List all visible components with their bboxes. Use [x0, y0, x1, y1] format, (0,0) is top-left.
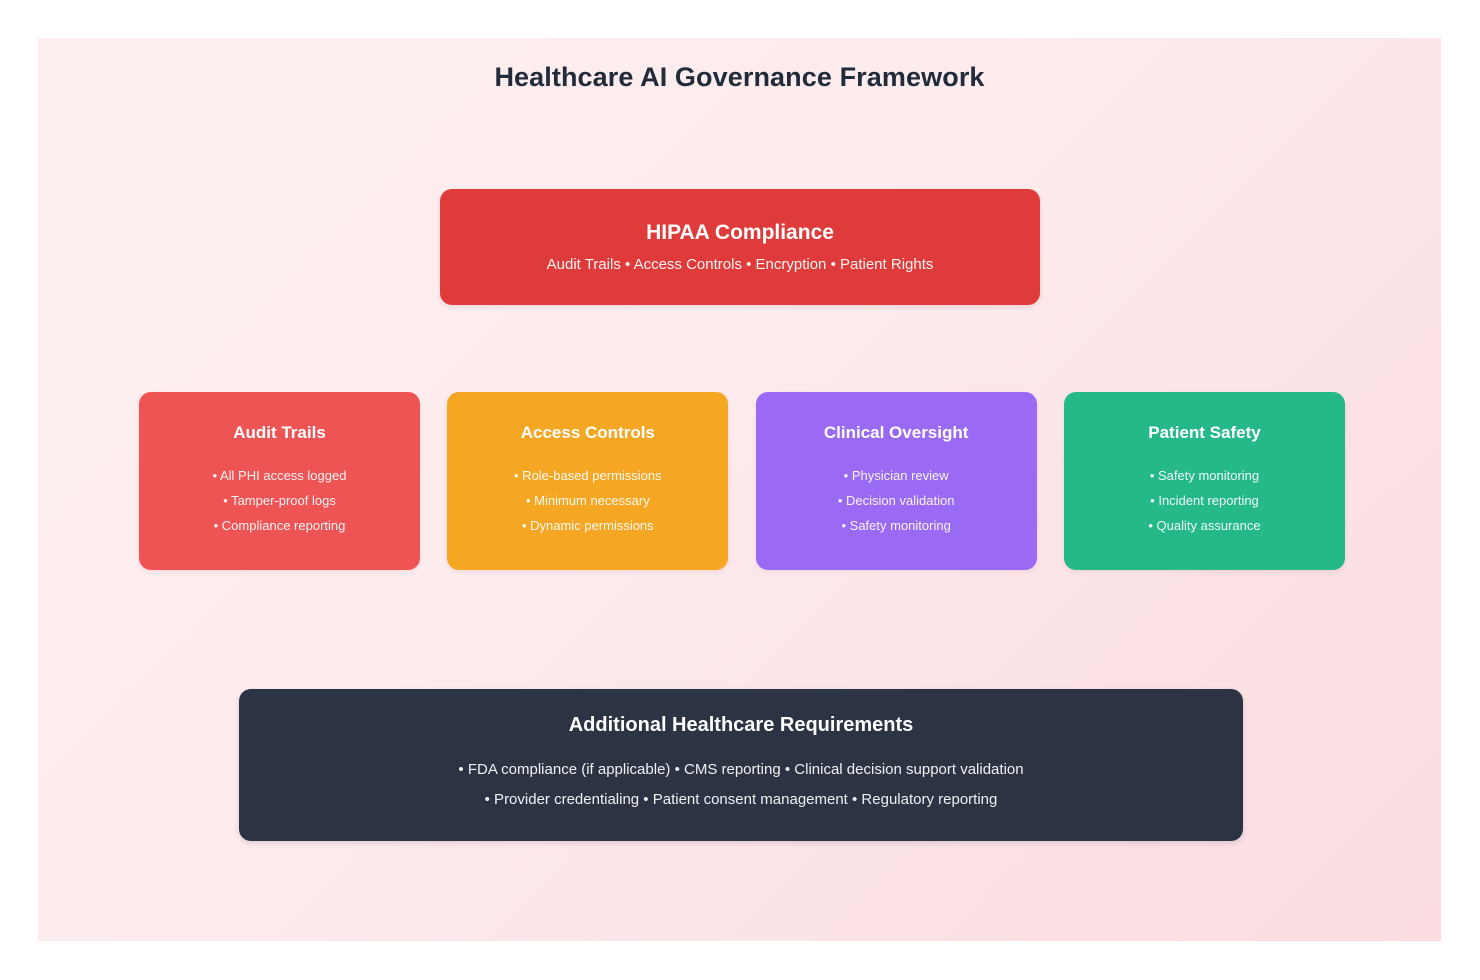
pillar-item: • Tamper-proof logs [139, 488, 420, 513]
additional-requirements-panel[interactable]: Additional Healthcare Requirements • FDA… [239, 689, 1243, 841]
pillar-title: Clinical Oversight [756, 424, 1037, 441]
hipaa-compliance-title: HIPAA Compliance [646, 222, 834, 243]
pillar-item: • Compliance reporting [139, 513, 420, 538]
pillar-card-clinical-oversight[interactable]: Clinical Oversight • Physician review • … [756, 392, 1037, 570]
pillar-item: • Incident reporting [1064, 488, 1345, 513]
pillar-title: Patient Safety [1064, 424, 1345, 441]
pillar-title: Audit Trails [139, 424, 420, 441]
pillar-item: • Safety monitoring [1064, 463, 1345, 488]
pillar-card-audit-trails[interactable]: Audit Trails • All PHI access logged • T… [139, 392, 420, 570]
pillar-item: • All PHI access logged [139, 463, 420, 488]
additional-requirements-line: • FDA compliance (if applicable) • CMS r… [458, 755, 1023, 785]
pillar-item: • Minimum necessary [447, 488, 728, 513]
pillar-item: • Decision validation [756, 488, 1037, 513]
page-title: Healthcare AI Governance Framework [38, 62, 1441, 93]
hipaa-compliance-subtitle: Audit Trails • Access Controls • Encrypt… [547, 257, 934, 272]
additional-requirements-title: Additional Healthcare Requirements [569, 715, 914, 735]
governance-framework-diagram: Healthcare AI Governance Framework HIPAA… [38, 38, 1441, 941]
hipaa-compliance-banner[interactable]: HIPAA Compliance Audit Trails • Access C… [440, 189, 1040, 305]
pillar-card-row: Audit Trails • All PHI access logged • T… [139, 392, 1345, 570]
additional-requirements-line: • Provider credentialing • Patient conse… [485, 785, 998, 815]
pillar-item: • Safety monitoring [756, 513, 1037, 538]
pillar-card-access-controls[interactable]: Access Controls • Role-based permissions… [447, 392, 728, 570]
pillar-item: • Physician review [756, 463, 1037, 488]
pillar-title: Access Controls [447, 424, 728, 441]
pillar-item: • Role-based permissions [447, 463, 728, 488]
pillar-item: • Quality assurance [1064, 513, 1345, 538]
pillar-item: • Dynamic permissions [447, 513, 728, 538]
pillar-card-patient-safety[interactable]: Patient Safety • Safety monitoring • Inc… [1064, 392, 1345, 570]
